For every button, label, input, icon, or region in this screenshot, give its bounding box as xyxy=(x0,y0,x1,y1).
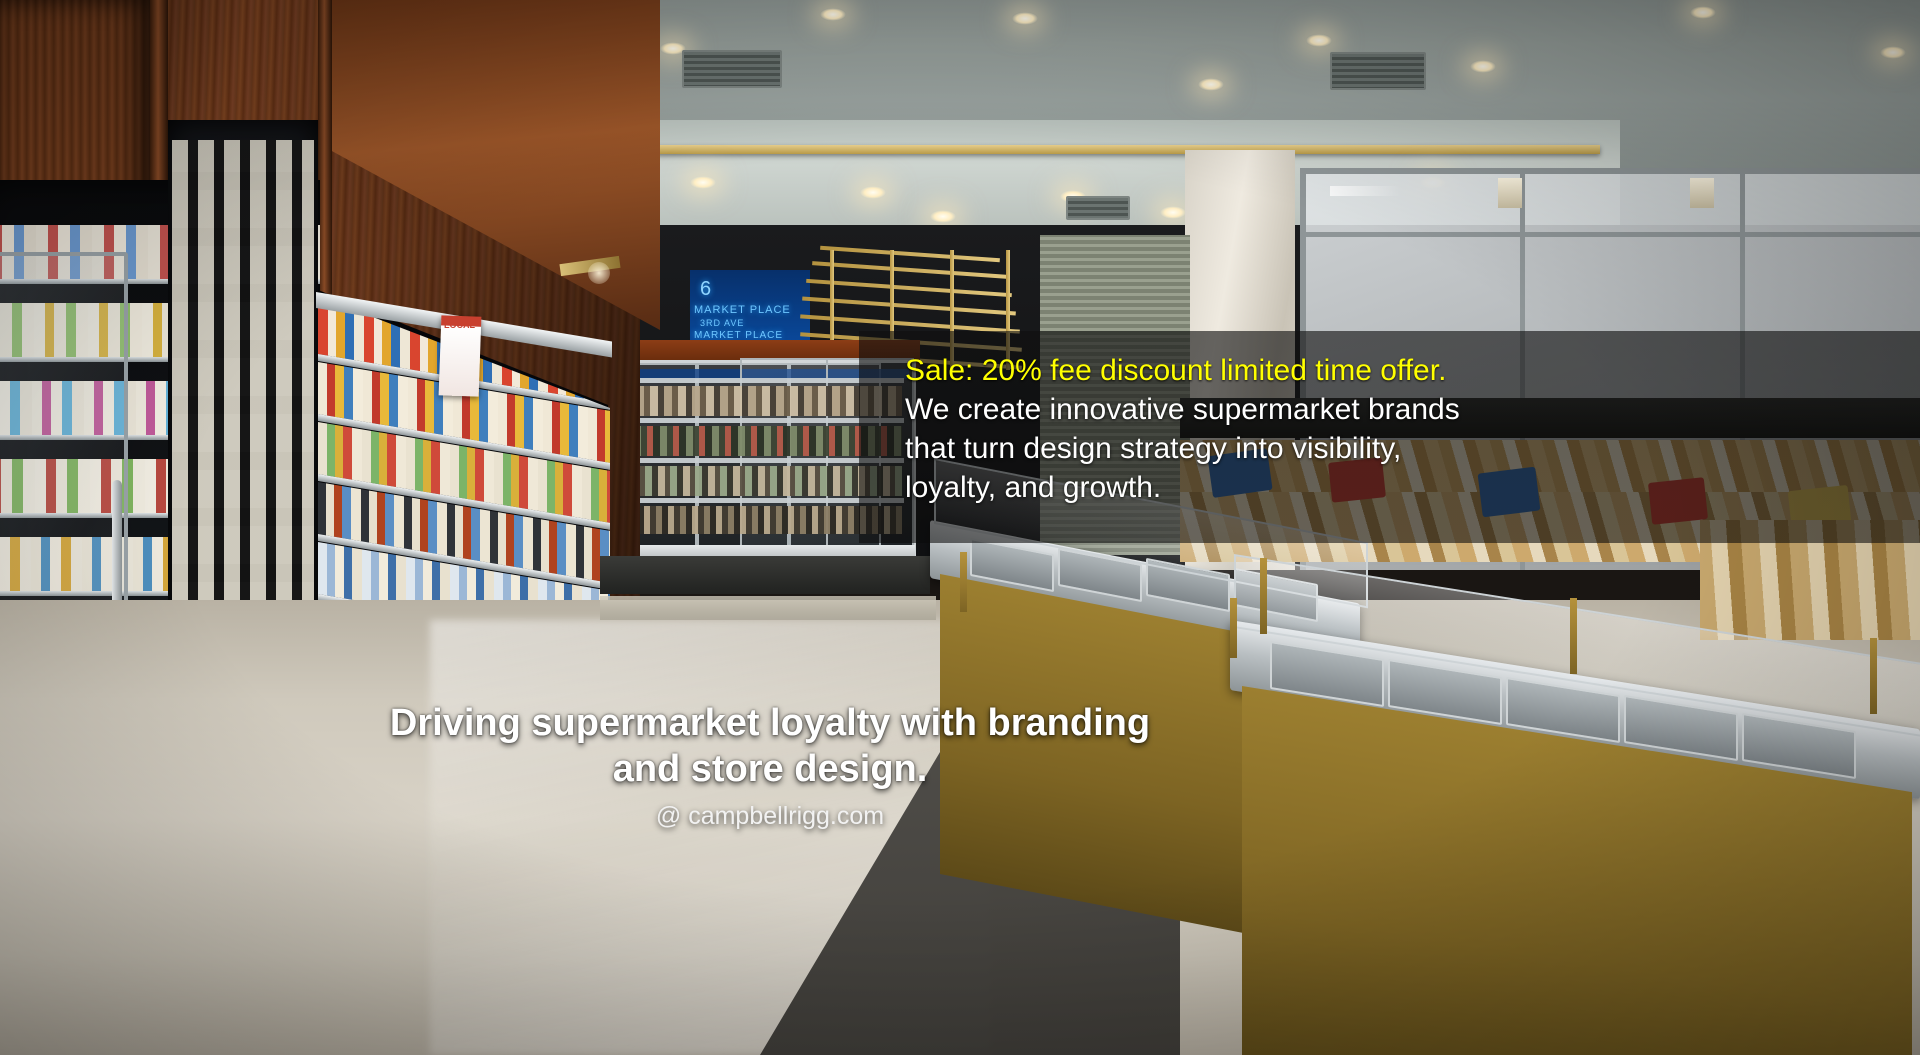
ceiling-downlight xyxy=(1012,12,1038,25)
sale-banner-text: Sale: 20% fee discount limited time offe… xyxy=(905,352,1915,390)
headline-line-1: Driving supermarket loyalty with brandin… xyxy=(390,702,1150,744)
ceiling-downlight xyxy=(690,176,716,189)
ceiling-downlight xyxy=(1880,46,1906,59)
hanging-packets xyxy=(172,140,314,620)
ceiling-downlight xyxy=(1160,206,1186,219)
sneeze-guard-post xyxy=(1230,598,1237,658)
ceiling-downlight xyxy=(860,186,886,199)
ceiling-air-vent xyxy=(682,50,782,88)
ceiling-air-vent xyxy=(1066,196,1130,220)
wall-sconce xyxy=(1498,178,1522,208)
glass-frame-rail xyxy=(1300,232,1920,237)
promo-body-line-1: We create innovative supermarket brands xyxy=(905,390,1915,429)
gold-ceiling-trim xyxy=(600,145,1600,154)
headline-text: Driving supermarket loyalty with brandin… xyxy=(0,700,1540,792)
wall-sconce xyxy=(1690,178,1714,208)
promo-banner: 6 MARKET PLACE 3RD AVE MARKET PLACE xyxy=(0,0,1920,1055)
sneeze-guard-post xyxy=(960,552,967,612)
sneeze-guard-post xyxy=(1260,558,1267,634)
ceiling-downlight xyxy=(1690,6,1716,19)
ceiling-downlight xyxy=(1470,60,1496,73)
glass-frame-head xyxy=(1300,168,1920,174)
ceiling-air-vent xyxy=(1330,52,1426,90)
ceiling-downlight xyxy=(1198,78,1224,91)
promo-body-line-3: loyalty, and growth. xyxy=(905,468,1915,507)
promo-body-line-2: that turn design strategy into visibilit… xyxy=(905,429,1915,468)
ceiling-downlight xyxy=(820,8,846,21)
site-handle: @ campbellrigg.com xyxy=(0,802,1540,831)
sign-line-2: 3RD AVE xyxy=(700,318,744,328)
sneeze-guard-post xyxy=(1570,598,1577,674)
sign-line-1: MARKET PLACE xyxy=(694,304,791,316)
sneeze-guard-post xyxy=(1870,638,1877,714)
headline-block: Driving supermarket loyalty with brandin… xyxy=(0,700,1540,831)
promo-text-block: Sale: 20% fee discount limited time offe… xyxy=(905,352,1915,507)
local-sign-label: LOCAL xyxy=(444,320,475,330)
ceiling-downlight xyxy=(930,210,956,223)
market-place-sign: 6 MARKET PLACE 3RD AVE MARKET PLACE xyxy=(690,270,810,350)
ceiling-downlight xyxy=(1306,34,1332,47)
sign-glyph: 6 xyxy=(700,278,712,301)
wall-sconce-glow xyxy=(1330,186,1400,196)
floor-edge-reflection xyxy=(600,596,936,620)
brass-wall-light-glow xyxy=(588,262,610,284)
cooler-kickplate xyxy=(600,556,930,594)
headline-line-2: and store design. xyxy=(0,746,1540,792)
promo-body-text: We create innovative supermarket brands … xyxy=(905,390,1915,507)
